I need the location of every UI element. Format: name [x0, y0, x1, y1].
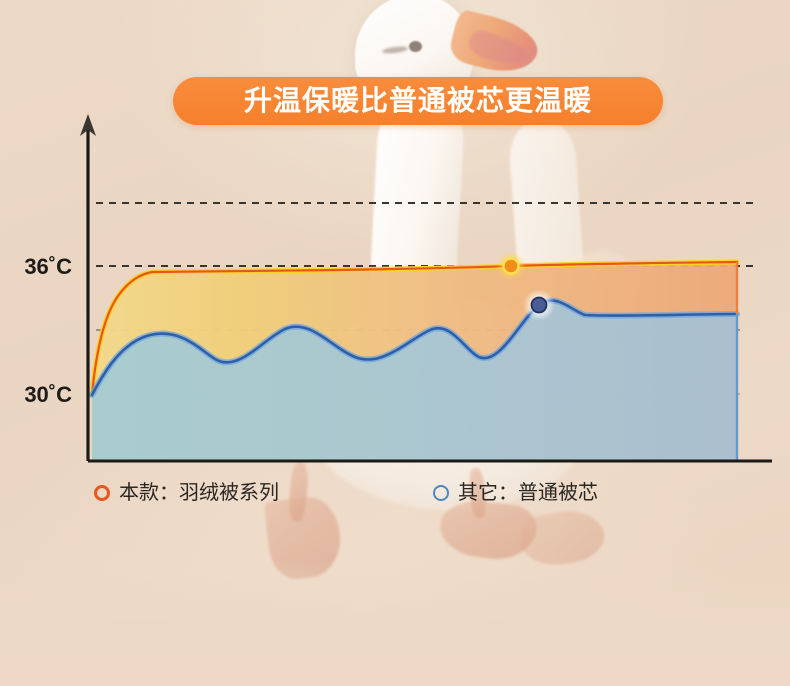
marker-down-quilt[interactable] [504, 259, 519, 274]
ring-marker-orange-icon [94, 485, 110, 501]
y-tick-label-upper: 36˚C [24, 254, 72, 279]
legend-label-ordinary-quilt: 其它：普通被芯 [458, 483, 598, 503]
title-banner: 升温保暖比普通被芯更温暖 [173, 77, 663, 125]
legend-item-ordinary-quilt[interactable]: 其它：普通被芯 [433, 483, 598, 503]
chart-legend: 本款：羽绒被系列 其它：普通被芯 [88, 483, 688, 513]
marker-ordinary-quilt[interactable] [532, 298, 547, 313]
ring-marker-blue-icon [433, 485, 449, 501]
title-text: 升温保暖比普通被芯更温暖 [244, 87, 592, 115]
promo-graphic: 36˚C 30˚C 本款：羽绒被系列 其它：普通被芯 升温保暖比普通被芯更温暖 [0, 0, 790, 686]
legend-label-down-quilt: 本款：羽绒被系列 [119, 483, 279, 503]
y-tick-label-lower: 30˚C [24, 382, 72, 407]
background-fade [0, 560, 790, 686]
legend-item-down-quilt[interactable]: 本款：羽绒被系列 [94, 483, 279, 503]
